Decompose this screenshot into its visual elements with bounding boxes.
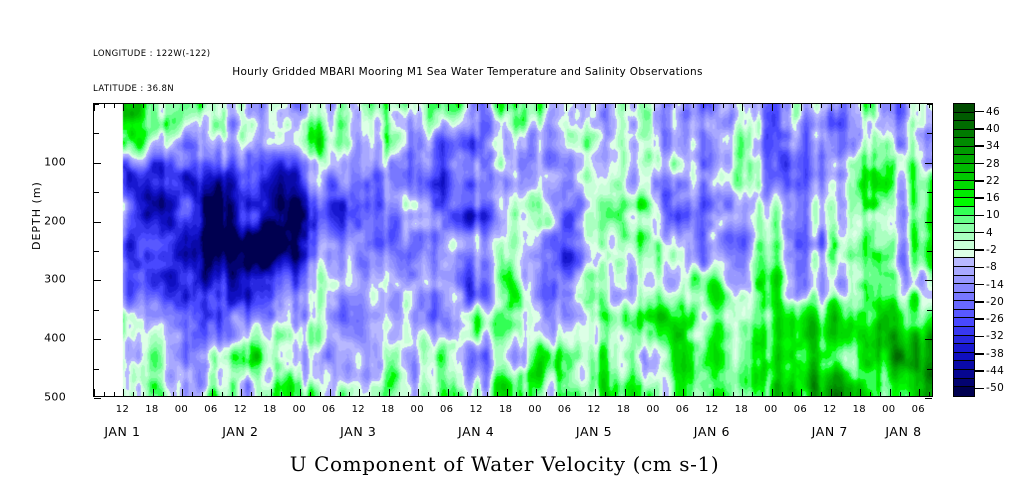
- colorbar-cell: [954, 190, 974, 199]
- colorbar-cell: [954, 387, 974, 396]
- colorbar-label: 16: [986, 192, 1000, 204]
- axis-tick: [585, 104, 586, 108]
- axis-tick: [693, 392, 694, 396]
- axis-tick: [349, 104, 350, 108]
- colorbar-cell: [954, 121, 974, 130]
- y-axis-depth-label: 100: [44, 155, 66, 168]
- axis-tick: [801, 104, 802, 111]
- colorbar-tick: [975, 284, 984, 286]
- axis-tick: [94, 104, 95, 111]
- colorbar-cell: [954, 284, 974, 293]
- colorbar-tick: [975, 128, 984, 130]
- axis-tick: [742, 104, 743, 111]
- axis-tick: [811, 104, 812, 108]
- x-axis-day-label: JAN 7: [812, 424, 848, 439]
- axis-tick: [605, 104, 606, 108]
- colorbar-tick: [975, 197, 984, 199]
- axis-tick: [615, 392, 616, 396]
- axis-tick: [94, 251, 99, 252]
- axis-tick: [467, 392, 468, 396]
- axis-tick: [927, 369, 932, 370]
- x-axis-hour-label: 00: [764, 404, 777, 415]
- x-axis-hour-label: 18: [381, 404, 394, 415]
- axis-tick: [448, 389, 449, 396]
- colorbar-cell: [954, 336, 974, 345]
- colorbar-label: -2: [986, 244, 997, 256]
- axis-tick: [890, 104, 891, 111]
- axis-tick: [438, 104, 439, 108]
- axis-tick: [202, 104, 203, 108]
- axis-tick: [359, 389, 360, 396]
- axis-tick: [104, 392, 105, 396]
- axis-tick: [860, 104, 861, 111]
- colorbar-cell: [954, 113, 974, 122]
- axis-tick: [94, 222, 101, 223]
- axis-tick: [418, 389, 419, 396]
- axis-tick: [664, 104, 665, 108]
- axis-tick: [94, 280, 101, 281]
- x-axis-hour-label: 18: [853, 404, 866, 415]
- axis-tick: [925, 280, 932, 281]
- x-axis-day-label: JAN 5: [576, 424, 612, 439]
- axis-tick: [585, 392, 586, 396]
- colorbar-tick: [975, 370, 984, 372]
- axis-tick: [713, 104, 714, 111]
- x-axis-hour-label: 06: [204, 404, 217, 415]
- x-axis-hour-label: 18: [735, 404, 748, 415]
- axis-tick: [536, 104, 537, 111]
- axis-tick: [925, 339, 932, 340]
- axis-tick: [575, 392, 576, 396]
- colorbar-cell: [954, 301, 974, 310]
- axis-tick: [683, 389, 684, 396]
- axis-tick: [782, 104, 783, 108]
- axis-tick: [408, 392, 409, 396]
- axis-tick: [644, 104, 645, 108]
- axis-tick: [192, 104, 193, 108]
- y-axis-depth-label: 500: [44, 391, 66, 404]
- axis-tick: [94, 133, 99, 134]
- x-axis-hour-label: 00: [293, 404, 306, 415]
- axis-tick: [192, 392, 193, 396]
- axis-tick: [163, 104, 164, 108]
- axis-tick: [212, 389, 213, 396]
- axis-tick: [546, 104, 547, 108]
- colorbar-label: 10: [986, 209, 1000, 221]
- colorbar-tick: [975, 215, 984, 217]
- axis-tick: [526, 392, 527, 396]
- axis-tick: [625, 389, 626, 396]
- axis-tick: [133, 104, 134, 108]
- colorbar-tick: [975, 336, 984, 338]
- x-axis-hour-label: 00: [411, 404, 424, 415]
- axis-tick: [222, 392, 223, 396]
- axis-tick: [900, 392, 901, 396]
- colorbar-cell: [954, 318, 974, 327]
- colorbar-cell: [954, 164, 974, 173]
- axis-tick: [925, 222, 932, 223]
- colorbar-cell: [954, 361, 974, 370]
- axis-tick: [340, 392, 341, 396]
- axis-tick: [772, 104, 773, 111]
- axis-tick: [399, 104, 400, 108]
- colorbar-tick: [975, 267, 984, 269]
- axis-tick: [399, 392, 400, 396]
- axis-tick: [634, 392, 635, 396]
- x-axis-hour-label: 06: [558, 404, 571, 415]
- axis-tick: [654, 104, 655, 111]
- axis-tick: [927, 104, 932, 105]
- colorbar-label: -32: [986, 330, 1004, 342]
- x-axis-day-label: JAN 6: [694, 424, 730, 439]
- axis-tick: [114, 104, 115, 108]
- axis-tick: [487, 104, 488, 108]
- axis-tick: [792, 392, 793, 396]
- axis-tick: [300, 389, 301, 396]
- axis-tick: [693, 104, 694, 108]
- axis-tick: [428, 392, 429, 396]
- axis-tick: [713, 389, 714, 396]
- x-axis-hour-label: 00: [528, 404, 541, 415]
- axis-tick: [654, 389, 655, 396]
- axis-tick: [340, 104, 341, 108]
- x-axis-hour-label: 18: [263, 404, 276, 415]
- colorbar-label: -14: [986, 279, 1004, 291]
- axis-tick: [94, 339, 101, 340]
- figure-caption: U Component of Water Velocity (cm s-1): [0, 452, 1009, 476]
- axis-tick: [143, 392, 144, 396]
- axis-tick: [448, 104, 449, 111]
- axis-tick: [389, 389, 390, 396]
- axis-tick: [821, 104, 822, 108]
- axis-tick: [271, 389, 272, 396]
- colorbar-cell: [954, 138, 974, 147]
- axis-tick: [497, 104, 498, 108]
- axis-tick: [232, 392, 233, 396]
- axis-tick: [477, 104, 478, 111]
- y-axis-title: DEPTH (m): [30, 181, 43, 250]
- axis-tick: [811, 392, 812, 396]
- colorbar-cell: [954, 353, 974, 362]
- axis-tick: [320, 392, 321, 396]
- axis-tick: [173, 104, 174, 108]
- axis-tick: [153, 104, 154, 111]
- axis-tick: [114, 392, 115, 396]
- axis-tick: [438, 392, 439, 396]
- axis-tick: [556, 392, 557, 396]
- axis-tick: [104, 104, 105, 108]
- axis-tick: [212, 104, 213, 111]
- colorbar-tick: [975, 111, 984, 113]
- axis-tick: [762, 104, 763, 108]
- colorbar-label: -44: [986, 365, 1004, 377]
- axis-tick: [182, 104, 183, 111]
- axis-tick: [566, 104, 567, 111]
- axis-tick: [841, 104, 842, 108]
- axis-tick: [173, 392, 174, 396]
- axis-tick: [202, 392, 203, 396]
- x-axis-day-label: JAN 8: [885, 424, 921, 439]
- x-axis-hour-label: 18: [499, 404, 512, 415]
- colorbar-cell: [954, 233, 974, 242]
- axis-tick: [94, 192, 99, 193]
- axis-tick: [94, 369, 99, 370]
- axis-tick: [870, 392, 871, 396]
- axis-tick: [605, 392, 606, 396]
- axis-tick: [133, 392, 134, 396]
- axis-tick: [870, 104, 871, 108]
- x-axis-hour-label: 06: [912, 404, 925, 415]
- velocity-heatmap: [94, 104, 932, 396]
- axis-tick: [507, 104, 508, 111]
- axis-tick: [418, 104, 419, 111]
- axis-tick: [241, 389, 242, 396]
- axis-tick: [94, 104, 99, 105]
- axis-tick: [536, 389, 537, 396]
- colorbar-tick: [975, 318, 984, 320]
- longitude-text: LONGITUDE : 122W(-122): [93, 49, 211, 61]
- y-axis-depth-label: 200: [44, 214, 66, 227]
- colorbar-label: -38: [986, 348, 1004, 360]
- axis-tick: [487, 392, 488, 396]
- axis-tick: [595, 389, 596, 396]
- axis-tick: [241, 104, 242, 111]
- axis-tick: [644, 392, 645, 396]
- axis-tick: [516, 392, 517, 396]
- axis-tick: [389, 104, 390, 111]
- colorbar-cell: [954, 276, 974, 285]
- axis-tick: [674, 104, 675, 108]
- axis-tick: [458, 392, 459, 396]
- axis-tick: [821, 392, 822, 396]
- colorbar-tick: [975, 163, 984, 165]
- axis-tick: [94, 389, 95, 396]
- colorbar-label: 40: [986, 123, 1000, 135]
- axis-tick: [497, 392, 498, 396]
- axis-tick: [369, 104, 370, 108]
- axis-tick: [683, 104, 684, 111]
- axis-tick: [222, 104, 223, 108]
- axis-tick: [927, 133, 932, 134]
- axis-tick: [909, 392, 910, 396]
- axis-tick: [467, 104, 468, 108]
- y-axis-depth-label: 400: [44, 332, 66, 345]
- axis-tick: [742, 389, 743, 396]
- colorbar-tick: [975, 353, 984, 355]
- y-axis-depth-label: 300: [44, 273, 66, 286]
- axis-tick: [516, 104, 517, 108]
- colorbar-cell: [954, 379, 974, 388]
- x-axis-hour-label: 06: [322, 404, 335, 415]
- axis-tick: [330, 104, 331, 111]
- axis-tick: [566, 389, 567, 396]
- axis-tick: [880, 104, 881, 108]
- x-axis-day-label: JAN 2: [222, 424, 258, 439]
- axis-tick: [232, 104, 233, 108]
- x-axis-hour-label: 00: [646, 404, 659, 415]
- axis-tick: [310, 392, 311, 396]
- colorbar-label: 28: [986, 158, 1000, 170]
- axis-tick: [927, 192, 932, 193]
- axis-tick: [281, 392, 282, 396]
- plot-frame: [93, 103, 933, 397]
- axis-tick: [792, 104, 793, 108]
- axis-tick: [290, 104, 291, 108]
- colorbar-cell: [954, 310, 974, 319]
- axis-tick: [153, 389, 154, 396]
- axis-tick: [369, 392, 370, 396]
- axis-tick: [909, 104, 910, 108]
- axis-tick: [723, 104, 724, 108]
- x-axis-hour-label: 06: [794, 404, 807, 415]
- axis-tick: [261, 392, 262, 396]
- axis-tick: [703, 392, 704, 396]
- axis-tick: [330, 389, 331, 396]
- axis-tick: [408, 104, 409, 108]
- colorbar-cell: [954, 344, 974, 353]
- colorbar-label: 4: [986, 227, 993, 239]
- axis-tick: [929, 392, 930, 396]
- axis-tick: [546, 392, 547, 396]
- axis-tick: [575, 104, 576, 108]
- axis-tick: [841, 392, 842, 396]
- x-axis-hour-label: 00: [175, 404, 188, 415]
- x-axis-hour-label: 12: [234, 404, 247, 415]
- colorbar-label: -20: [986, 296, 1004, 308]
- colorbar-label: 22: [986, 175, 1000, 187]
- axis-tick: [477, 389, 478, 396]
- axis-tick: [880, 392, 881, 396]
- x-axis-hour-label: 12: [116, 404, 129, 415]
- colorbar-cell: [954, 130, 974, 139]
- axis-tick: [615, 104, 616, 108]
- axis-tick: [782, 392, 783, 396]
- axis-tick: [703, 104, 704, 108]
- axis-tick: [556, 104, 557, 108]
- axis-tick: [723, 392, 724, 396]
- x-axis-day-label: JAN 3: [340, 424, 376, 439]
- axis-tick: [919, 104, 920, 111]
- axis-tick: [94, 163, 101, 164]
- axis-tick: [925, 163, 932, 164]
- x-axis-hour-label: 06: [676, 404, 689, 415]
- colorbar-label: -50: [986, 382, 1004, 394]
- axis-tick: [123, 104, 124, 111]
- colorbar-label: 34: [986, 140, 1000, 152]
- colorbar-tick: [975, 180, 984, 182]
- colorbar-cell: [954, 173, 974, 182]
- colorbar-label: -8: [986, 261, 997, 273]
- x-axis-hour-label: 12: [469, 404, 482, 415]
- axis-tick: [526, 104, 527, 108]
- x-axis-hour-label: 06: [440, 404, 453, 415]
- axis-tick: [831, 104, 832, 111]
- axis-tick: [664, 392, 665, 396]
- axis-tick: [290, 392, 291, 396]
- axis-tick: [379, 392, 380, 396]
- x-axis-day-label: JAN 1: [104, 424, 140, 439]
- x-axis-hour-label: 12: [823, 404, 836, 415]
- x-axis-hour-label: 18: [617, 404, 630, 415]
- axis-tick: [801, 389, 802, 396]
- colorbar-cell: [954, 327, 974, 336]
- colorbar-label: -26: [986, 313, 1004, 325]
- colorbar-cell: [954, 147, 974, 156]
- x-axis-hour-label: 12: [705, 404, 718, 415]
- latitude-text: LATITUDE : 36.8N: [93, 84, 211, 96]
- axis-tick: [733, 104, 734, 108]
- x-axis-hour-label: 12: [587, 404, 600, 415]
- colorbar-cell: [954, 181, 974, 190]
- axis-tick: [919, 389, 920, 396]
- x-axis-hour-label: 18: [145, 404, 158, 415]
- axis-tick: [251, 104, 252, 108]
- velocity-heatmap-canvas: [94, 104, 932, 396]
- axis-tick: [831, 389, 832, 396]
- colorbar-cell: [954, 198, 974, 207]
- axis-tick: [925, 398, 932, 399]
- colorbar-cell: [954, 224, 974, 233]
- axis-tick: [94, 310, 99, 311]
- colorbar-cell: [954, 267, 974, 276]
- axis-tick: [900, 104, 901, 108]
- colorbar-cell: [954, 250, 974, 259]
- colorbar-cell: [954, 258, 974, 267]
- axis-tick: [123, 389, 124, 396]
- axis-tick: [507, 389, 508, 396]
- colorbar-tick: [975, 301, 984, 303]
- colorbar-tick: [975, 145, 984, 147]
- axis-tick: [182, 389, 183, 396]
- colorbar-cell: [954, 216, 974, 225]
- axis-tick: [300, 104, 301, 111]
- axis-tick: [261, 104, 262, 108]
- axis-tick: [349, 392, 350, 396]
- axis-tick: [359, 104, 360, 111]
- plot-title: Hourly Gridded MBARI Mooring M1 Sea Wate…: [0, 66, 935, 78]
- colorbar-cell: [954, 155, 974, 164]
- axis-tick: [94, 398, 101, 399]
- x-axis-day-label: JAN 4: [458, 424, 494, 439]
- axis-tick: [251, 392, 252, 396]
- axis-tick: [674, 392, 675, 396]
- colorbar-cell: [954, 207, 974, 216]
- axis-tick: [860, 389, 861, 396]
- axis-tick: [890, 389, 891, 396]
- axis-tick: [772, 389, 773, 396]
- colorbar-tick: [975, 388, 984, 390]
- axis-tick: [320, 104, 321, 108]
- axis-tick: [752, 104, 753, 108]
- axis-tick: [733, 392, 734, 396]
- axis-tick: [379, 104, 380, 108]
- axis-tick: [281, 104, 282, 108]
- axis-tick: [762, 392, 763, 396]
- colorbar-tick: [975, 249, 984, 251]
- axis-tick: [634, 104, 635, 108]
- colorbar-label: 46: [986, 106, 1000, 118]
- colorbar-cell: [954, 370, 974, 379]
- x-axis-hour-label: 12: [352, 404, 365, 415]
- axis-tick: [595, 104, 596, 111]
- axis-tick: [850, 104, 851, 108]
- colorbar-cell: [954, 293, 974, 302]
- axis-tick: [625, 104, 626, 111]
- axis-tick: [271, 104, 272, 111]
- axis-tick: [163, 392, 164, 396]
- axis-tick: [927, 251, 932, 252]
- axis-tick: [310, 104, 311, 108]
